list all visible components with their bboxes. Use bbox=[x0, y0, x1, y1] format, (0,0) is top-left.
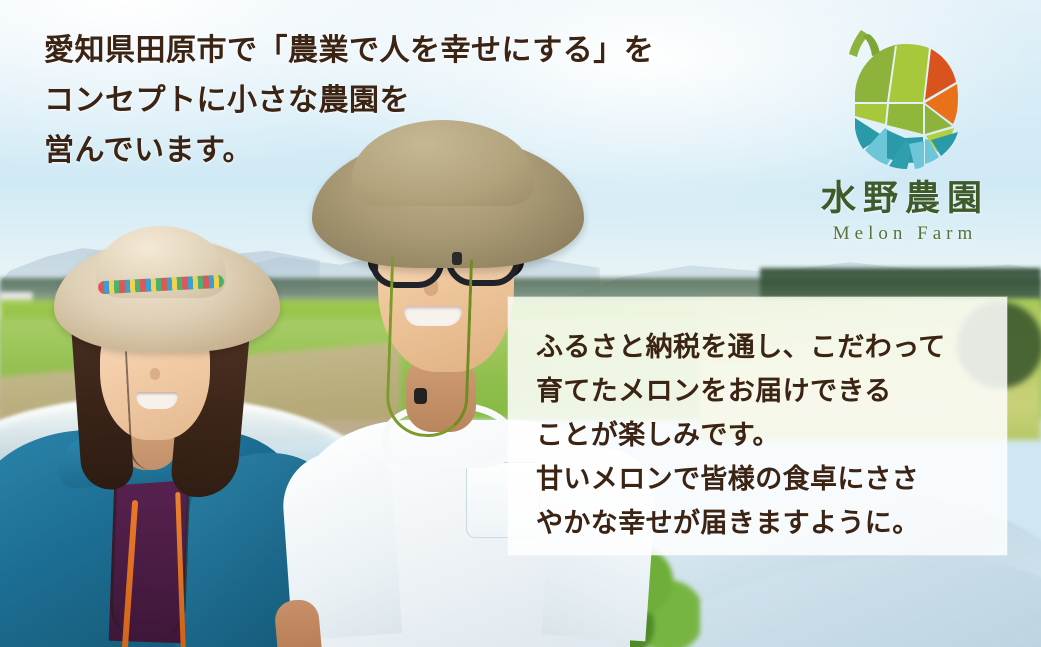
farm-name: 水野農園 bbox=[786, 180, 1024, 219]
quote-line-4: 甘いメロンで皆様の食卓にささ bbox=[536, 457, 996, 501]
farm-logo: 水野農園 Melon Farm bbox=[786, 24, 1024, 245]
headline-line-1: 愛知県田原市で「農業で人を幸せにする」を bbox=[44, 26, 704, 76]
melon-mosaic-logo-icon bbox=[825, 24, 985, 174]
quote-line-2: 育てたメロンをお届けできる bbox=[536, 369, 996, 413]
headline: 愛知県田原市で「農業で人を幸せにする」を コンセプトに小さな農園を 営んでいます… bbox=[44, 26, 704, 176]
quote-line-5: やかな幸せが届きますように。 bbox=[536, 501, 996, 545]
headline-line-2: コンセプトに小さな農園を bbox=[44, 76, 704, 126]
hat-chin-strap bbox=[385, 257, 473, 439]
quote-line-3: ことが楽しみです。 bbox=[536, 413, 996, 457]
quote-line-1: ふるさと納税を通し、こだわって bbox=[536, 325, 996, 369]
quote-text: ふるさと納税を通し、こだわって 育てたメロンをお届けできる ことが楽しみです。 … bbox=[536, 325, 996, 545]
banner-root: 愛知県田原市で「農業で人を幸せにする」を コンセプトに小さな農園を 営んでいます… bbox=[0, 0, 1041, 647]
headline-line-3: 営んでいます。 bbox=[44, 126, 704, 176]
quote-panel: ふるさと納税を通し、こだわって 育てたメロンをお届けできる ことが楽しみです。 … bbox=[508, 297, 1007, 555]
farm-name-english: Melon Farm bbox=[786, 223, 1024, 245]
